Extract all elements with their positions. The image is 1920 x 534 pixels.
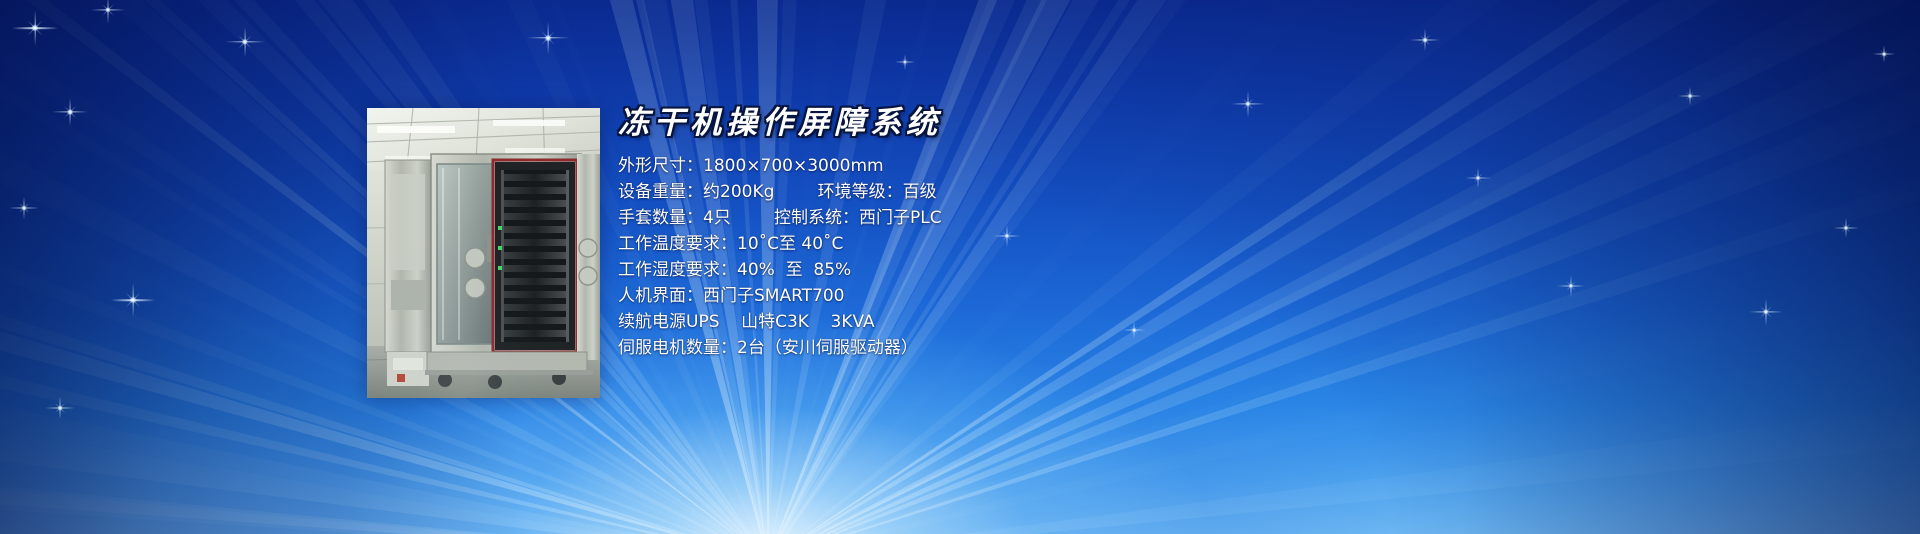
product-photo	[367, 108, 600, 398]
spec-row: 工作湿度要求：40% 至 85%	[618, 258, 1318, 284]
spec-row: 工作温度要求：10˚C至 40˚C	[618, 232, 1318, 258]
spec-row: 手套数量：4只 控制系统：西门子PLC	[618, 206, 1318, 232]
spec-line: 外形尺寸：1800×700×3000mm	[618, 158, 884, 175]
product-banner: 冻干机操作屏障系统 外形尺寸：1800×700×3000mm设备重量：约200K…	[0, 0, 1920, 534]
spec-line: 续航电源UPS 山特C3K 3KVA	[618, 314, 875, 331]
background-right-shade	[1460, 0, 1920, 534]
spec-line: 伺服电机数量：2台（安川伺服驱动器）	[618, 340, 918, 357]
spec-line: 工作温度要求：10˚C至 40˚C	[618, 236, 843, 253]
spec-line: 工作湿度要求：40% 至 85%	[618, 262, 851, 279]
text-content: 冻干机操作屏障系统 外形尺寸：1800×700×3000mm设备重量：约200K…	[618, 104, 1318, 362]
spec-list: 外形尺寸：1800×700×3000mm设备重量：约200Kg 环境等级：百级手…	[618, 154, 1318, 362]
spec-line: 设备重量：约200Kg 环境等级：百级	[618, 184, 937, 201]
spec-row: 续航电源UPS 山特C3K 3KVA	[618, 310, 1318, 336]
spec-line: 手套数量：4只 控制系统：西门子PLC	[618, 210, 942, 227]
spec-row: 外形尺寸：1800×700×3000mm	[618, 154, 1318, 180]
spec-row: 设备重量：约200Kg 环境等级：百级	[618, 180, 1318, 206]
page-title: 冻干机操作屏障系统	[618, 104, 1318, 143]
spec-row: 伺服电机数量：2台（安川伺服驱动器）	[618, 336, 1318, 362]
spec-row: 人机界面：西门子SMART700	[618, 284, 1318, 310]
spec-line: 人机界面：西门子SMART700	[618, 288, 845, 305]
